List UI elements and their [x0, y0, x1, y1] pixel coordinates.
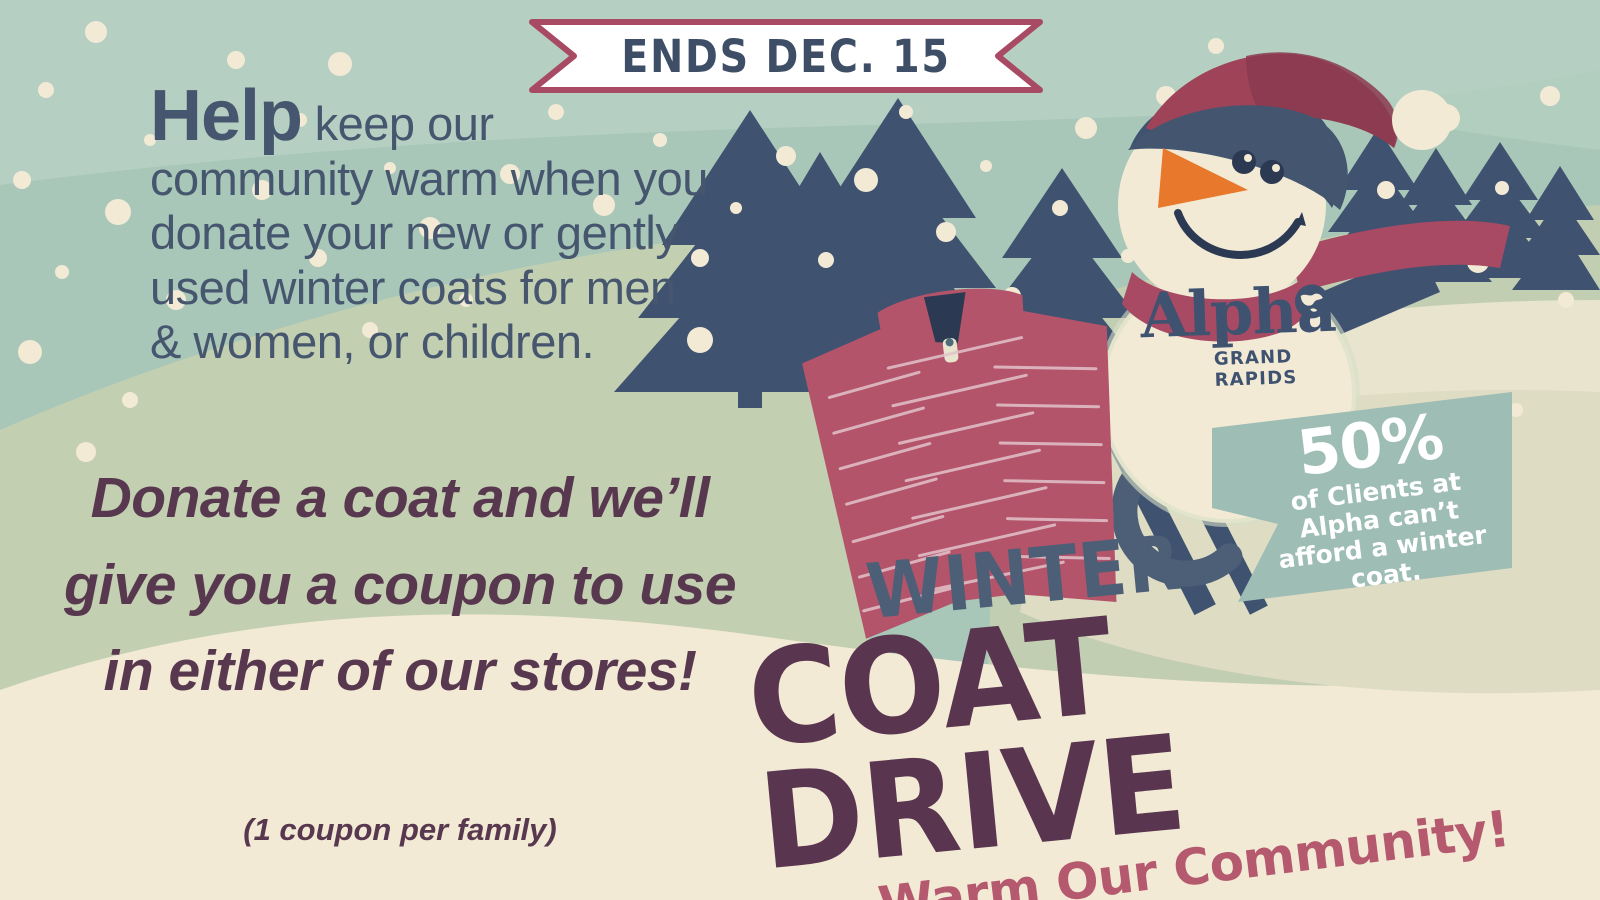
- ends-date-banner: ENDS DEC. 15: [528, 18, 1044, 94]
- snowman-hat-pompom: [1392, 90, 1452, 150]
- alpha-logo-tagline: GRAND RAPIDS: [1214, 345, 1341, 391]
- snowman-eye: [1260, 160, 1284, 184]
- snowman-eye: [1232, 150, 1256, 174]
- headline-text: Help keep our community warm when you do…: [150, 84, 710, 370]
- poster-canvas: ENDS DEC. 15 Help keep our community war…: [0, 0, 1600, 900]
- alpha-logo: Alpha GRAND RAPIDS: [1137, 279, 1340, 386]
- ends-date-label: ENDS DEC. 15: [559, 18, 1013, 94]
- globe-icon: [1291, 281, 1332, 322]
- headline-lead: Help: [150, 76, 302, 156]
- statistic-content: 50% of Clients at Alpha can’t afford a w…: [1242, 399, 1512, 604]
- statistic-banner: 50% of Clients at Alpha can’t afford a w…: [1212, 392, 1512, 602]
- promo-text: Donate a coat and we’ll give you a coupo…: [55, 455, 745, 715]
- promo-note: (1 coupon per family): [55, 812, 745, 848]
